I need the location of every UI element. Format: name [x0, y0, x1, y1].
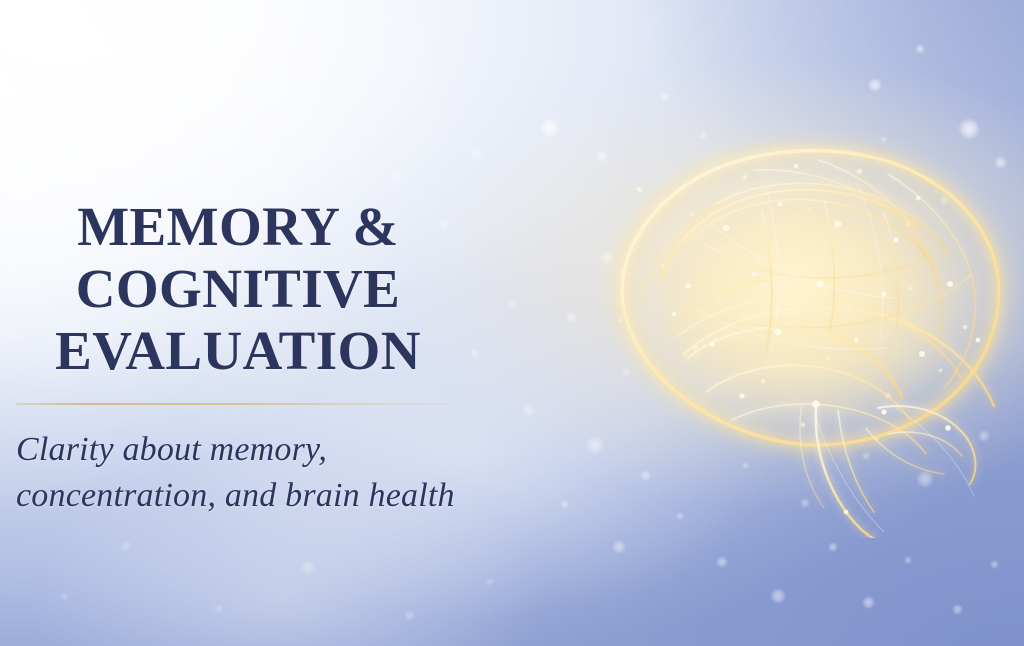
headline-line-1: MEMORY & [16, 196, 460, 258]
hero-text-block: MEMORY & COGNITIVE EVALUATION Clarity ab… [16, 196, 486, 519]
hero-banner: MEMORY & COGNITIVE EVALUATION Clarity ab… [0, 0, 1024, 646]
subtitle-line-2: concentration, and brain health [16, 473, 486, 519]
page-subtitle: Clarity about memory, concentration, and… [16, 427, 486, 519]
headline-line-2: COGNITIVE [16, 258, 460, 320]
gold-divider [16, 403, 478, 405]
subtitle-line-1: Clarity about memory, [16, 427, 486, 473]
page-title: MEMORY & COGNITIVE EVALUATION [16, 196, 460, 382]
headline-line-3: EVALUATION [16, 320, 460, 382]
